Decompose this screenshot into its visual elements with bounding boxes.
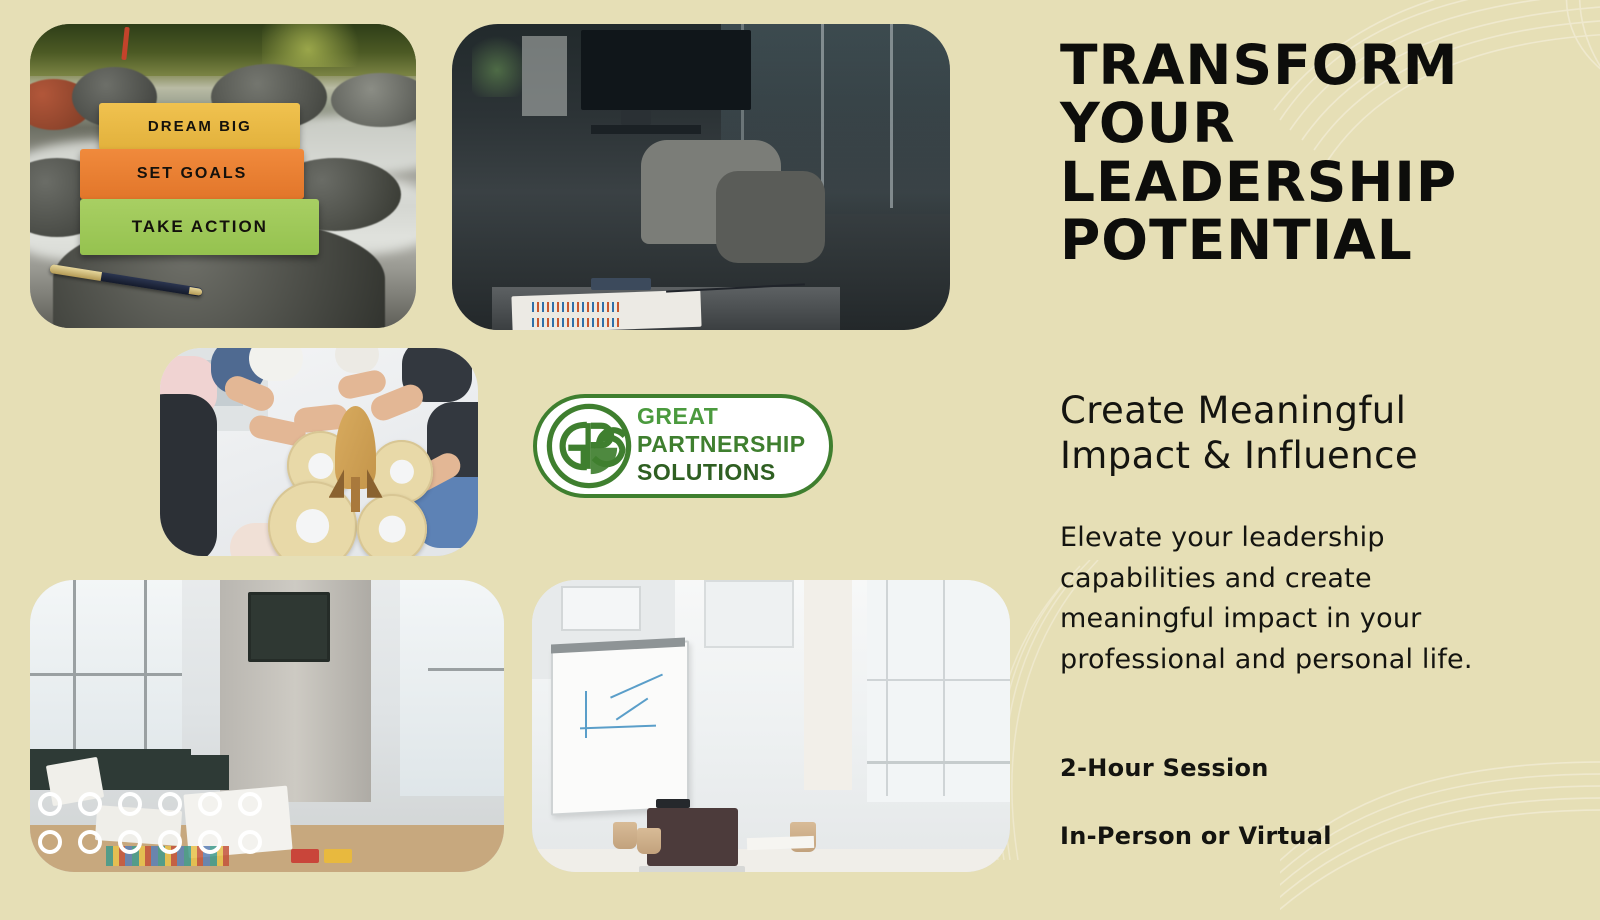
logo-line-solutions: SOLUTIONS [637,461,825,484]
block-dream-big-label: DREAM BIG [148,118,252,135]
logo-wordmark: GREAT PARTNERSHIP SOLUTIONS [637,405,825,484]
poster-canvas: DREAM BIG SET GOALS TAKE ACTION [0,0,1600,900]
wall-grille [248,592,330,662]
swirl-decoration-bottom-right [1280,690,1600,920]
flipchart [551,641,689,816]
photo-teamwork-gears [160,348,478,556]
block-take-action: TAKE ACTION [80,199,319,255]
block-dream-big: DREAM BIG [99,103,300,150]
photo-motivational-blocks: DREAM BIG SET GOALS TAKE ACTION [30,24,416,328]
page-title: TRANSFORM YOUR LEADERSHIP POTENTIAL [1060,36,1530,269]
photo-presenter-session [532,580,1010,872]
photo-business-meeting [452,24,950,330]
gps-monogram-icon [545,402,633,490]
text-column: TRANSFORM YOUR LEADERSHIP POTENTIAL Crea… [1060,36,1530,269]
dot-pattern-decoration [38,792,268,854]
logo-line-partnership: PARTNERSHIP [637,433,825,456]
subheadline: Create Meaningful Impact & Influence [1060,388,1530,478]
detail-session-length: 2-Hour Session [1060,754,1500,782]
block-set-goals-label: SET GOALS [137,165,247,183]
logo-line-great: GREAT [637,405,825,428]
block-set-goals: SET GOALS [80,149,304,199]
body-copy: Elevate your leadership capabilities and… [1060,518,1500,680]
logo-great-partnership-solutions: GREAT PARTNERSHIP SOLUTIONS [533,394,833,498]
block-take-action-label: TAKE ACTION [132,217,268,237]
detail-delivery-format: In-Person or Virtual [1060,822,1500,850]
